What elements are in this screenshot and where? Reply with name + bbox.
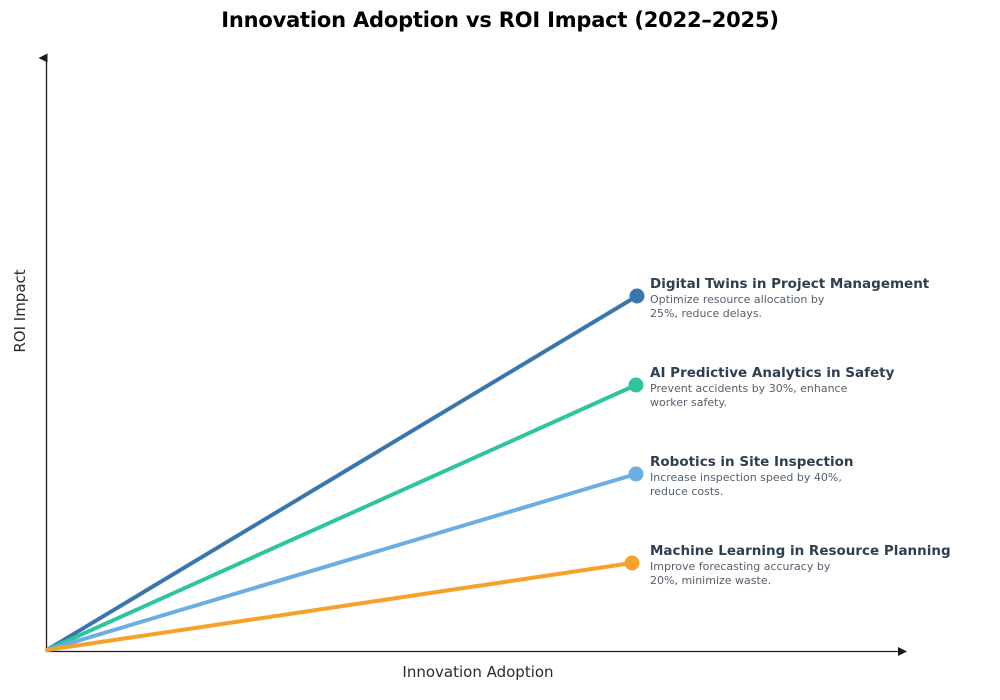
series-endpoint-marker[interactable]	[625, 556, 640, 571]
series-endpoint-marker[interactable]	[629, 378, 644, 393]
series-annotation-title: Digital Twins in Project Management	[650, 277, 929, 292]
series-annotation-description: Improve forecasting accuracy by 20%, min…	[650, 560, 951, 587]
series-endpoint-marker[interactable]	[629, 467, 644, 482]
x-axis-label-text: Innovation Adoption	[402, 663, 553, 681]
series-line	[47, 476, 629, 650]
series-lines	[47, 300, 631, 650]
y-axis-label: ROI Impact	[11, 251, 29, 371]
series-annotation-ai-predictive-analytics: AI Predictive Analytics in Safety Preven…	[650, 366, 894, 409]
series-annotation-machine-learning: Machine Learning in Resource Planning Im…	[650, 544, 951, 587]
series-annotation-robotics: Robotics in Site Inspection Increase ins…	[650, 455, 853, 498]
series-annotation-title: Robotics in Site Inspection	[650, 455, 853, 470]
series-annotation-title: AI Predictive Analytics in Safety	[650, 366, 894, 381]
chart-container: Innovation Adoption vs ROI Impact (2022–…	[0, 0, 1000, 700]
series-annotation-title: Machine Learning in Resource Planning	[650, 544, 951, 559]
series-annotation-description: Increase inspection speed by 40%, reduce…	[650, 471, 853, 498]
series-endpoint-marker[interactable]	[630, 289, 645, 304]
series-line	[47, 388, 630, 650]
series-annotation-digital-twins: Digital Twins in Project Management Opti…	[650, 277, 929, 320]
series-annotation-description: Prevent accidents by 30%, enhance worker…	[650, 382, 894, 409]
series-line	[47, 564, 625, 650]
series-line	[47, 300, 631, 650]
series-markers	[625, 289, 645, 571]
series-annotation-description: Optimize resource allocation by 25%, red…	[650, 293, 929, 320]
plot-area	[0, 0, 1000, 700]
x-axis-label: Innovation Adoption	[0, 663, 1000, 681]
